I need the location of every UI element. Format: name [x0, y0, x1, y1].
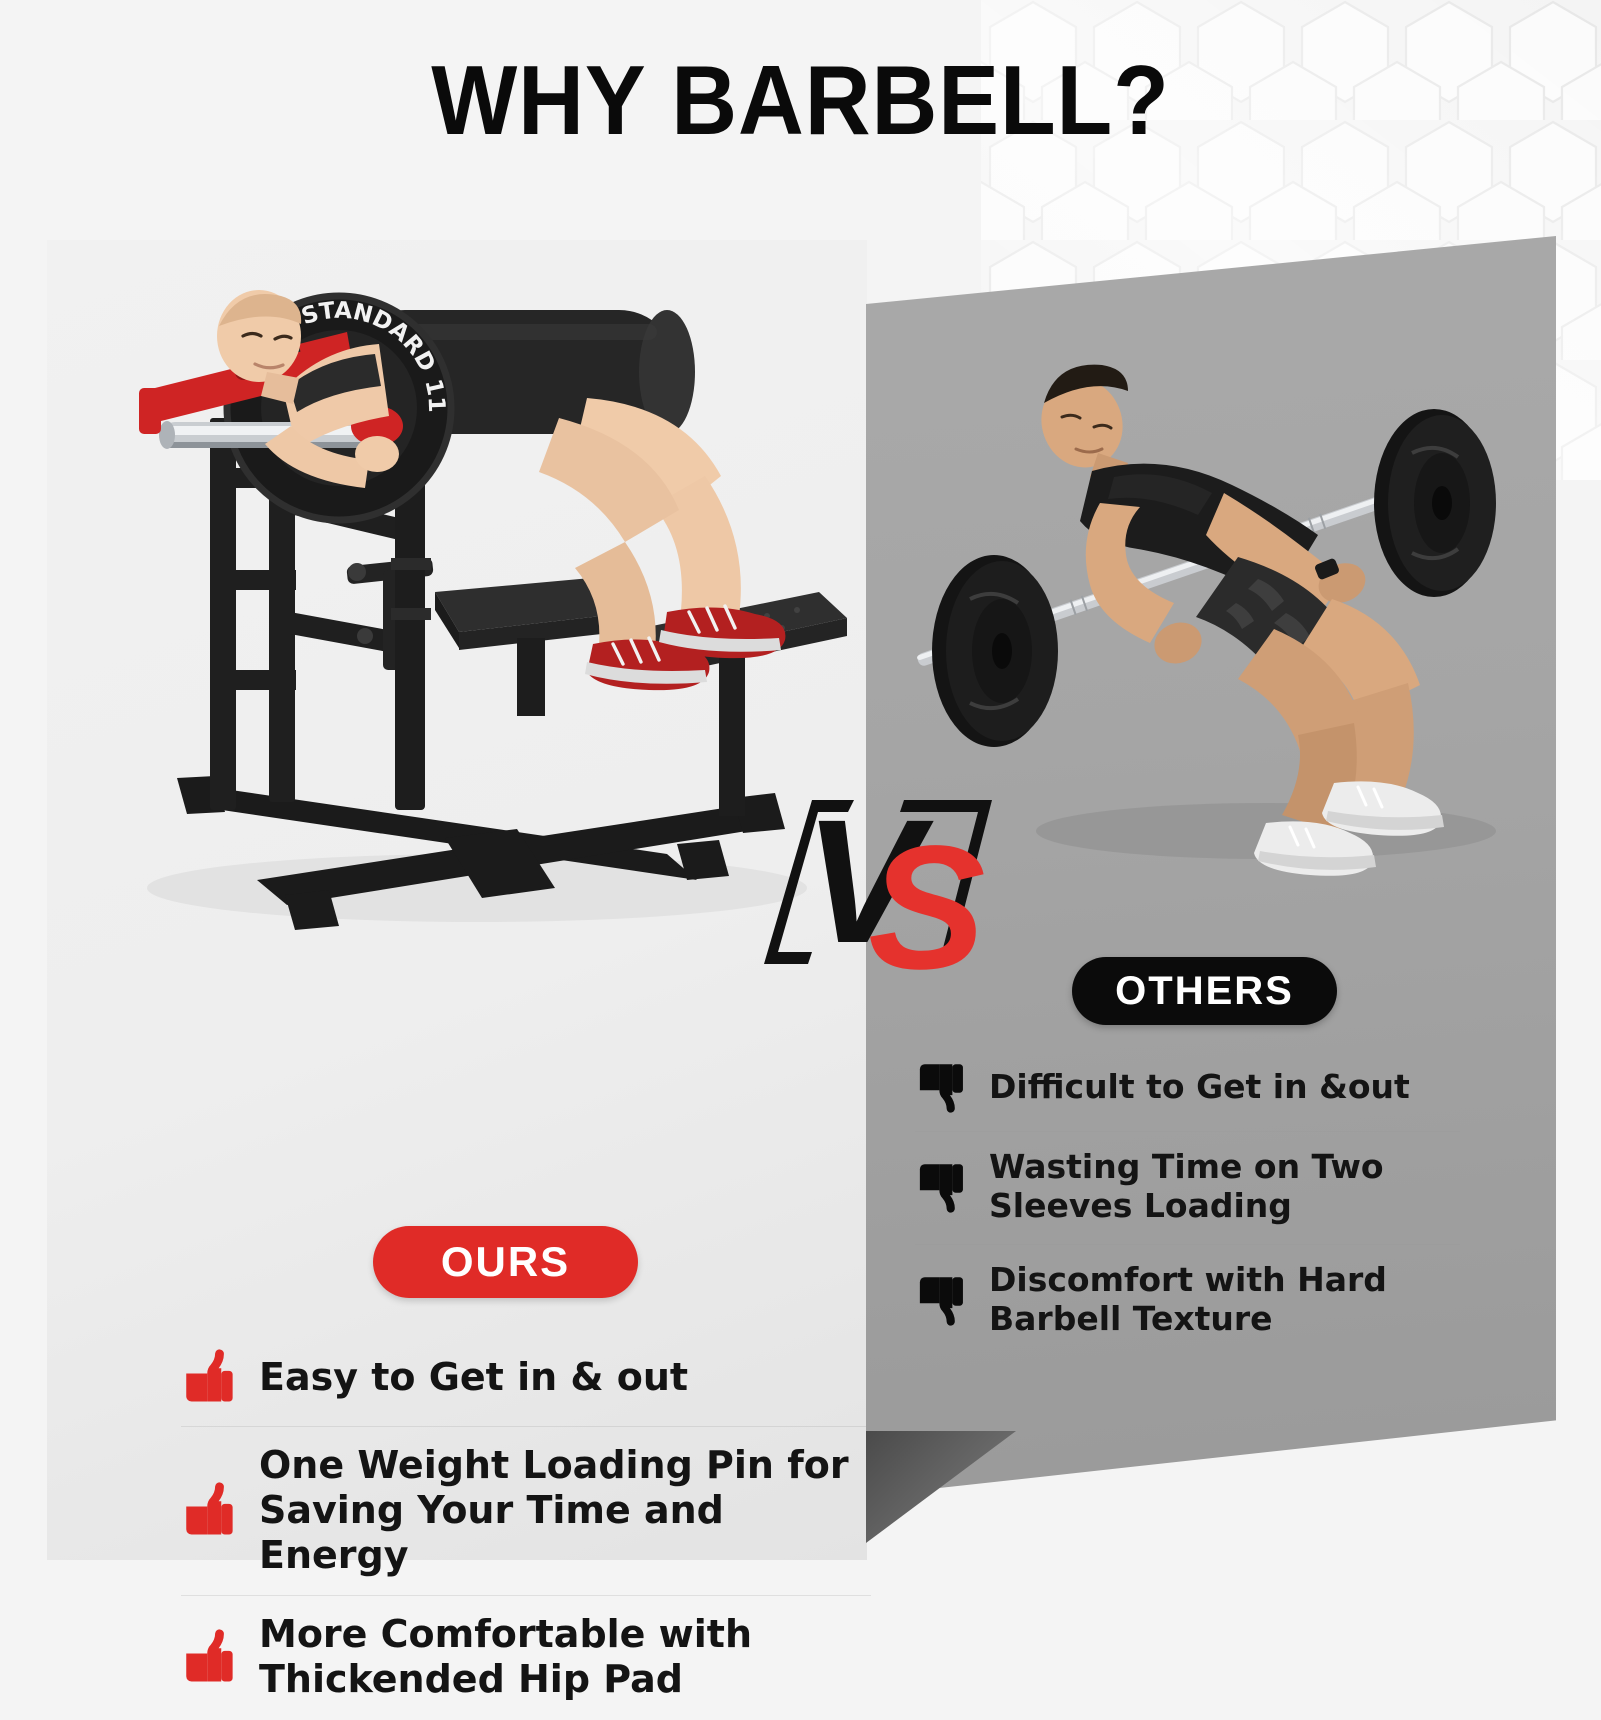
ours-badge: OURS	[373, 1226, 638, 1298]
others-badge: OTHERS	[1072, 957, 1337, 1025]
list-item-label: Discomfort with Hard Barbell Texture	[989, 1261, 1460, 1339]
thumbs-down-icon	[915, 1161, 967, 1213]
list-item-label: Difficult to Get in &out	[989, 1068, 1410, 1107]
versus-badge: V S	[726, 756, 1026, 971]
thumbs-down-icon	[915, 1274, 967, 1326]
thumbs-down-icon	[915, 1061, 967, 1113]
ours-feature-list: Easy to Get in & out One Weight Loading …	[181, 1330, 871, 1720]
thumbs-up-icon	[181, 1349, 237, 1405]
list-item: Discomfort with Hard Barbell Texture	[915, 1244, 1460, 1357]
list-item-label: Wasting Time on Two Sleeves Loading	[989, 1148, 1460, 1226]
list-item: Difficult to Get in &out	[915, 1045, 1460, 1131]
others-feature-list: Difficult to Get in &out Wasting Time on…	[915, 1045, 1460, 1357]
list-item: More Comfortable with Thickended Hip Pad	[181, 1595, 871, 1720]
barbell-plate-left	[932, 555, 1058, 747]
list-item: One Weight Loading Pin for Saving Your T…	[181, 1426, 871, 1595]
thumbs-up-icon	[181, 1629, 237, 1685]
page-title: WHY BARBELL?	[56, 44, 1545, 157]
thumbs-up-icon	[181, 1482, 237, 1538]
vs-letter-s: S	[868, 810, 985, 971]
list-item-label: One Weight Loading Pin for Saving Your T…	[259, 1443, 871, 1577]
list-item-label: Easy to Get in & out	[259, 1355, 688, 1400]
list-item: Wasting Time on Two Sleeves Loading	[915, 1131, 1460, 1244]
barbell-plate-right	[1374, 409, 1496, 597]
list-item-label: More Comfortable with Thickended Hip Pad	[259, 1612, 871, 1702]
list-item: Easy to Get in & out	[181, 1330, 871, 1426]
